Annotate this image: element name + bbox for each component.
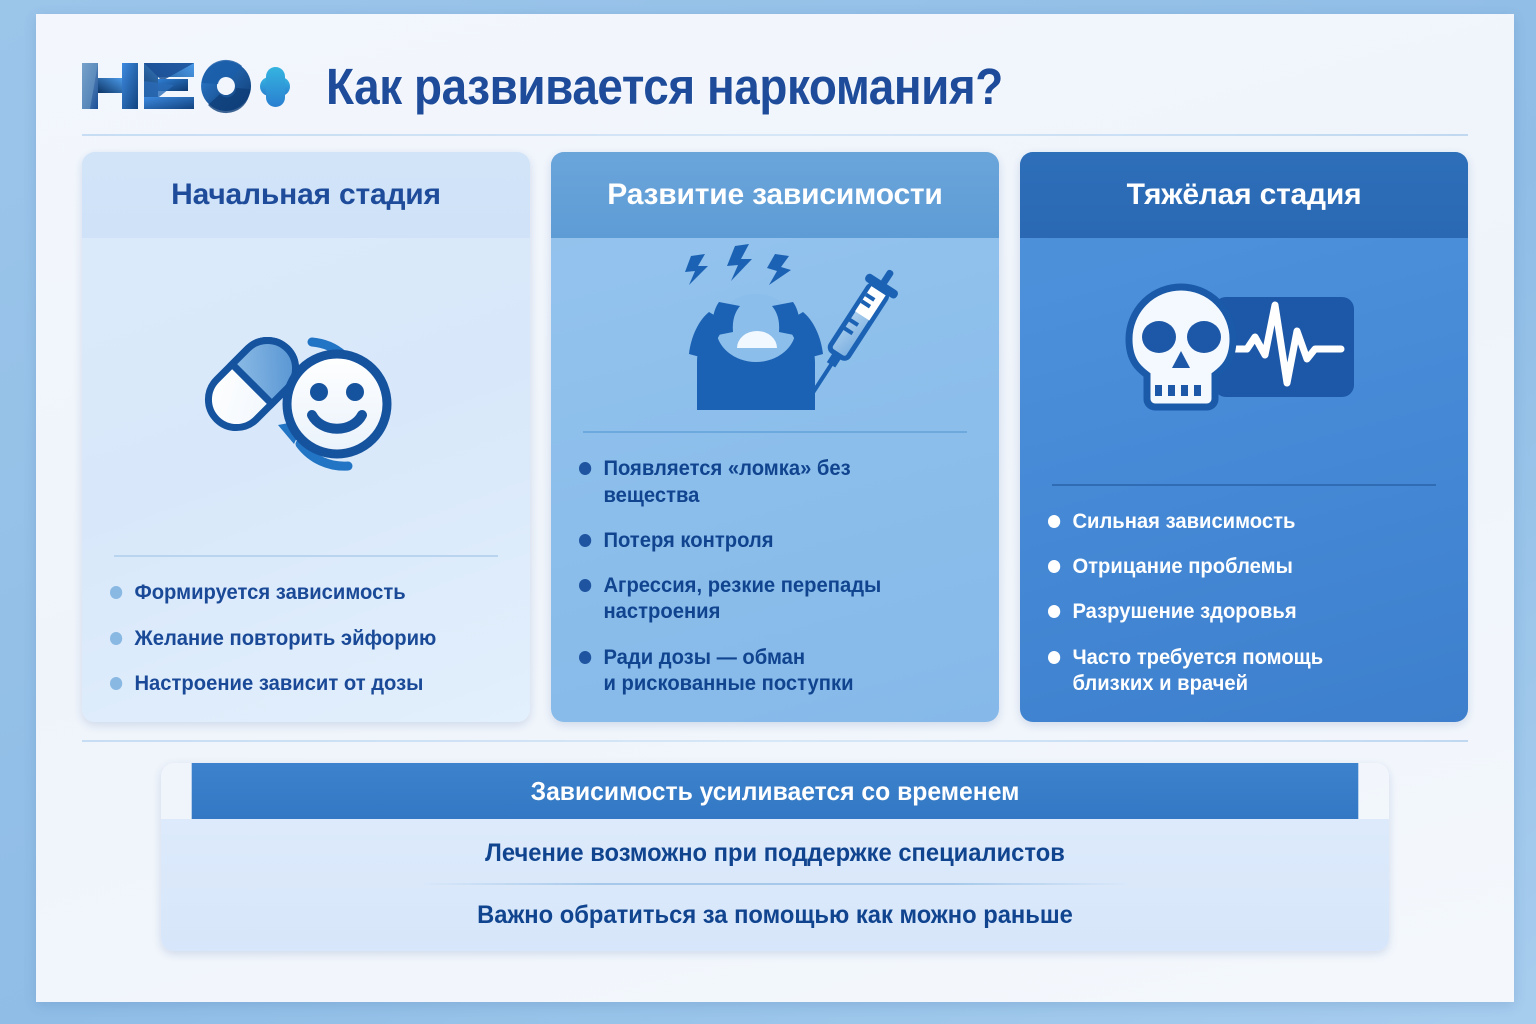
- list-item: Потеря контроля: [579, 527, 949, 553]
- list-item: Желание повторить эйфорию: [110, 625, 480, 651]
- list-item-label: Настроение зависит от дозы: [134, 670, 423, 696]
- skull-heartbeat-icon: [1119, 275, 1369, 440]
- footer-area: Зависимость усиливается со временем Лече…: [66, 742, 1484, 982]
- bullet-dot-icon: [579, 462, 591, 475]
- list-item-label: Ради дозы — обман и рискованные поступки: [603, 644, 853, 696]
- list-item: Настроение зависит от дозы: [110, 670, 480, 696]
- list-item: Часто требуется помощь близких и врачей: [1048, 644, 1418, 696]
- bullet-dot-icon: [1048, 651, 1060, 664]
- list-item: Сильная зависимость: [1048, 508, 1418, 534]
- stage-cards: Начальная стадия: [66, 136, 1484, 722]
- summary-line: Важно обратиться за помощью как можно ра…: [192, 885, 1359, 945]
- card-bullet-list: Появляется «ломка» без вещества Потеря к…: [551, 433, 999, 722]
- list-item: Появляется «ломка» без вещества: [579, 455, 949, 507]
- card-icon-area: [1020, 238, 1468, 484]
- card-bullet-list: Формируется зависимость Желание повторит…: [82, 557, 530, 722]
- bullet-dot-icon: [110, 677, 122, 690]
- list-item: Отрицание проблемы: [1048, 553, 1418, 579]
- stressed-person-syringe-icon: [645, 242, 905, 422]
- list-item-label: Агрессия, резкие перепады настроения: [603, 572, 949, 624]
- card-title: Начальная стадия: [82, 152, 530, 238]
- list-item: Формируется зависимость: [110, 579, 480, 605]
- stage-card-developing[interactable]: Развитие зависимости: [551, 152, 999, 722]
- neo-plus-logo-icon: [78, 53, 292, 119]
- summary-panel: Зависимость усиливается со временем Лече…: [161, 763, 1389, 951]
- card-title: Развитие зависимости: [551, 152, 999, 238]
- list-item-label: Часто требуется помощь близких и врачей: [1072, 644, 1323, 696]
- list-item-label: Появляется «ломка» без вещества: [603, 455, 949, 507]
- bullet-dot-icon: [1048, 560, 1060, 573]
- header: Как развивается наркомания?: [66, 38, 1484, 130]
- card-icon-area: [82, 238, 530, 555]
- bullet-dot-icon: [110, 632, 122, 645]
- list-item-label: Потеря контроля: [603, 527, 773, 553]
- stage-card-severe[interactable]: Тяжёлая стадия: [1020, 152, 1468, 722]
- list-item-label: Формируется зависимость: [134, 579, 405, 605]
- bullet-dot-icon: [579, 651, 591, 664]
- list-item: Разрушение здоровья: [1048, 598, 1418, 624]
- card-title: Тяжёлая стадия: [1020, 152, 1468, 238]
- poster-frame: Как развивается наркомания? Начальная ст…: [0, 0, 1536, 1024]
- summary-headline: Зависимость усиливается со временем: [192, 763, 1359, 819]
- list-item: Ради дозы — обман и рискованные поступки: [579, 644, 949, 696]
- list-item-label: Разрушение здоровья: [1072, 598, 1296, 624]
- list-item-label: Сильная зависимость: [1072, 508, 1295, 534]
- list-item: Агрессия, резкие перепады настроения: [579, 572, 949, 624]
- list-item-label: Отрицание проблемы: [1072, 553, 1292, 579]
- bullet-dot-icon: [579, 579, 591, 592]
- bullet-dot-icon: [579, 534, 591, 547]
- list-item-label: Желание повторить эйфорию: [134, 625, 436, 651]
- stage-card-initial[interactable]: Начальная стадия: [82, 152, 530, 722]
- bullet-dot-icon: [1048, 605, 1060, 618]
- summary-body: Лечение возможно при поддержке специалис…: [161, 819, 1389, 951]
- page-title: Как развивается наркомания?: [326, 57, 1003, 116]
- summary-line: Лечение возможно при поддержке специалис…: [192, 823, 1359, 883]
- pill-smiley-cycle-icon: [182, 304, 430, 484]
- bullet-dot-icon: [1048, 515, 1060, 528]
- card-icon-area: [551, 238, 999, 431]
- card-bullet-list: Сильная зависимость Отрицание проблемы Р…: [1020, 486, 1468, 722]
- bullet-dot-icon: [110, 586, 122, 599]
- poster-panel: Как развивается наркомания? Начальная ст…: [36, 14, 1514, 1002]
